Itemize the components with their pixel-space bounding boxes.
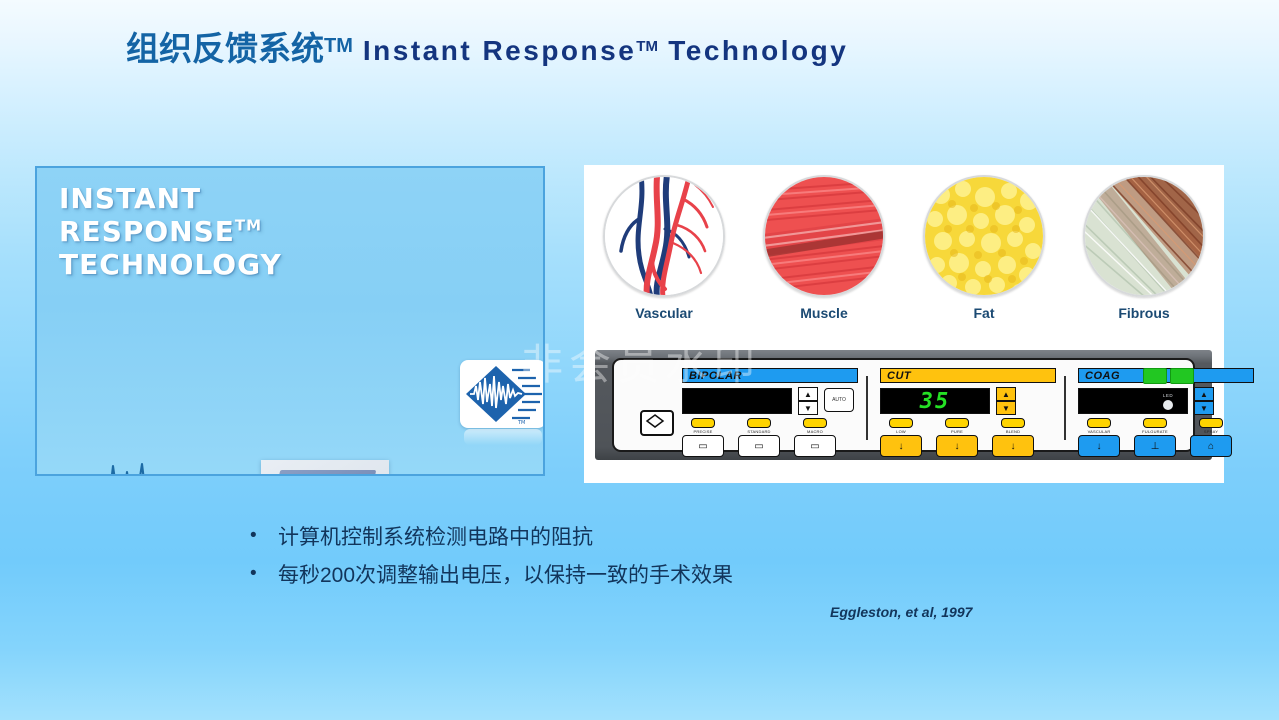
bullet-marker: • [250, 524, 278, 549]
bipolar-display [682, 388, 792, 414]
preset-key[interactable]: ↓ [936, 435, 978, 457]
tissue-types-panel: Vascular [584, 165, 1224, 483]
bullet-list: • 计算机控制系统检测电路中的阻抗 • 每秒200次调整输出电压，以保持一致的手… [250, 524, 1070, 601]
bipolar-up-button[interactable]: ▲ [798, 387, 818, 401]
bullet-item-1: • 计算机控制系统检测电路中的阻抗 [250, 524, 1070, 551]
cut-preset-low[interactable]: LOW ↓ [880, 418, 922, 457]
cut-display: 35 [880, 388, 990, 414]
preset-key[interactable]: ⌂ [1190, 435, 1232, 457]
preset-key[interactable]: ▭ [794, 435, 836, 457]
tissue-item-fat: Fat [912, 175, 1057, 321]
cut-button-row: LOW ↓ PURE ↓ BLEND ↓ [880, 418, 1034, 457]
led-caption: LED [1142, 393, 1194, 398]
input-waveform-icon [89, 458, 259, 476]
logo-reflection [464, 429, 542, 445]
bipolar-down-button[interactable]: ▼ [798, 401, 818, 415]
cut-stepper[interactable]: ▲ ▼ [996, 387, 1016, 415]
svg-text:TM: TM [517, 420, 525, 426]
cut-preset-blend[interactable]: BLEND ↓ [992, 418, 1034, 457]
logo-artwork: TM [460, 360, 545, 440]
bullet-text: 计算机控制系统检测电路中的阻抗 [278, 524, 593, 551]
page-title-english-tm: TM [636, 38, 658, 55]
tissue-type-list: Vascular [584, 175, 1224, 330]
led-indicator-dot [1163, 400, 1173, 410]
preset-led [945, 418, 969, 428]
led-bar-left [1143, 368, 1167, 384]
bullet-marker: • [250, 562, 278, 587]
section-header-cut: CUT [880, 368, 1056, 383]
bipolar-preset-macro[interactable]: MACRO ▭ [794, 418, 836, 457]
coag-button-row: VASCULAR ↓ FULGURATE ⊥ SPRAY ⌂ [1078, 418, 1232, 457]
preset-led [1001, 418, 1025, 428]
section-header-bipolar: BIPOLAR [682, 368, 858, 383]
preset-led [803, 418, 827, 428]
coag-preset-spray[interactable]: SPRAY ⌂ [1190, 418, 1232, 457]
led-bar-group [1142, 368, 1194, 384]
tissue-label-muscle: Muscle [752, 305, 897, 321]
preset-led [1143, 418, 1167, 428]
bipolar-preset-precise[interactable]: PRECISE ▭ [682, 418, 724, 457]
instant-response-diagram-panel: INSTANT RESPONSETM TECHNOLOGY TM [35, 166, 545, 476]
coag-preset-fulgurate[interactable]: FULGURATE ⊥ [1134, 418, 1176, 457]
heading-tm: TM [235, 217, 262, 235]
device-top-shell [270, 470, 377, 476]
cut-preset-pure[interactable]: PURE ↓ [936, 418, 978, 457]
instant-response-logo: TM [460, 360, 545, 440]
generator-front-panel: BIPOLAR ▲ ▼ AUTO PRECISE ▭ STANDARD [595, 350, 1212, 460]
tissue-item-vascular: Vascular [592, 175, 737, 321]
page-title-chinese: 组织反馈系统 [126, 32, 324, 65]
page-title-english-tail: Technology [658, 35, 848, 66]
preset-key[interactable]: ▭ [682, 435, 724, 457]
page-title: 组织反馈系统TM Instant ResponseTM Technology [126, 32, 848, 66]
tissue-label-fat: Fat [912, 305, 1057, 321]
heading-line-2: TECHNOLOGY [59, 248, 282, 281]
generator-section-cut: CUT 35 ▲ ▼ LOW ↓ PURE ↓ [880, 368, 1056, 448]
tissue-label-vascular: Vascular [592, 305, 737, 321]
preset-led [1199, 418, 1223, 428]
generator-status-leds: LED [1142, 368, 1194, 410]
bullet-text: 每秒200次调整输出电压，以保持一致的手术效果 [278, 562, 733, 589]
bipolar-stepper[interactable]: ▲ ▼ [798, 387, 818, 415]
page-title-chinese-tm: TM [324, 35, 353, 58]
instant-response-heading: INSTANT RESPONSETM TECHNOLOGY [59, 182, 389, 281]
led-bar-right [1170, 368, 1194, 384]
coag-up-button[interactable]: ▲ [1194, 387, 1214, 401]
preset-led [691, 418, 715, 428]
bipolar-preset-standard[interactable]: STANDARD ▭ [738, 418, 780, 457]
page-title-english: Instant ResponseTM Technology [363, 37, 848, 65]
coag-down-button[interactable]: ▼ [1194, 401, 1214, 415]
page-title-english-main: Instant Response [363, 35, 636, 66]
heading-line-1: INSTANT RESPONSE [59, 182, 235, 248]
tissue-item-muscle: Muscle [752, 175, 897, 321]
preset-led [889, 418, 913, 428]
coag-stepper[interactable]: ▲ ▼ [1194, 387, 1214, 415]
bipolar-button-row: PRECISE ▭ STANDARD ▭ MACRO ▭ [682, 418, 836, 457]
preset-key[interactable]: ↓ [880, 435, 922, 457]
preset-key[interactable]: ⊥ [1134, 435, 1176, 457]
preset-key[interactable]: ↓ [992, 435, 1034, 457]
tissue-item-fibrous: Fibrous [1072, 175, 1217, 321]
panel-divider-2 [1064, 376, 1066, 440]
panel-divider-1 [866, 376, 868, 440]
generator-section-bipolar: BIPOLAR ▲ ▼ AUTO PRECISE ▭ STANDARD [682, 368, 858, 448]
preset-key[interactable]: ▭ [738, 435, 780, 457]
preset-led [1087, 418, 1111, 428]
coag-preset-vascular[interactable]: VASCULAR ↓ [1078, 418, 1120, 457]
preset-led [747, 418, 771, 428]
fat-tissue-image [923, 175, 1045, 297]
tissue-label-fibrous: Fibrous [1072, 305, 1217, 321]
bullet-item-2: • 每秒200次调整输出电压，以保持一致的手术效果 [250, 562, 1070, 589]
citation-credit: Eggleston, et al, 1997 [830, 604, 972, 620]
vascular-tissue-image [603, 175, 725, 297]
cut-down-button[interactable]: ▼ [996, 401, 1016, 415]
preset-key[interactable]: ↓ [1078, 435, 1120, 457]
electrosurgical-generator-photo: FORCE FX [261, 460, 389, 476]
fibrous-tissue-image [1083, 175, 1205, 297]
cut-up-button[interactable]: ▲ [996, 387, 1016, 401]
bipolar-auto-button[interactable]: AUTO [824, 388, 854, 412]
generator-mode-button[interactable] [640, 410, 674, 436]
muscle-tissue-image [763, 175, 885, 297]
generator-control-surface: BIPOLAR ▲ ▼ AUTO PRECISE ▭ STANDARD [612, 358, 1195, 452]
